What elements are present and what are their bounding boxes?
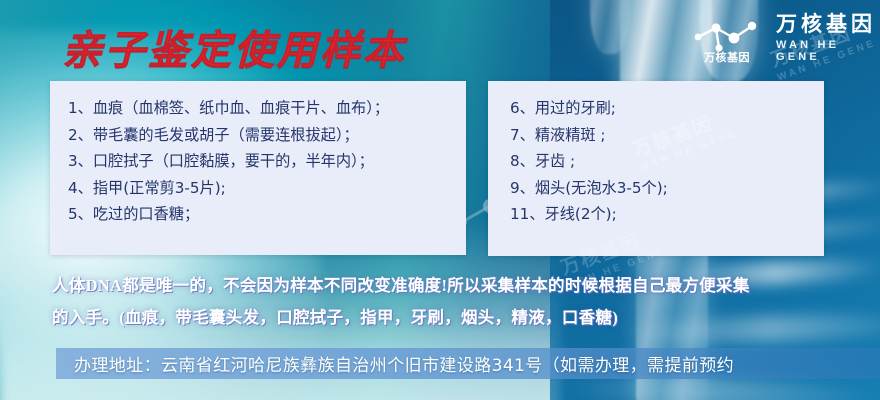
list-item: 8、牙齿 ; bbox=[510, 148, 824, 175]
address-banner-text: 办理地址：云南省红河哈尼族彝族自治州个旧市建设路341号（如需办理，需提前预约 bbox=[56, 351, 734, 376]
brand-mark: 万核基因 bbox=[690, 15, 764, 63]
list-item: 7、精液精斑 ; bbox=[510, 122, 824, 149]
list-item: 9、烟头(无泡水3-5个); bbox=[510, 175, 824, 202]
sample-list-left: 1、血痕（血棉签、纸巾血、血痕干片、血布）； 2、带毛囊的毛发或胡子（需要连根拔… bbox=[50, 81, 466, 228]
list-item: 2、带毛囊的毛发或胡子（需要连根拔起）； bbox=[68, 122, 466, 149]
sample-list-card-right: 6、用过的牙刷; 7、精液精斑 ; 8、牙齿 ; 9、烟头(无泡水3-5个); … bbox=[488, 81, 824, 256]
list-item: 3、口腔拭子（口腔黏膜，要干的，半年内）； bbox=[68, 148, 466, 175]
note-line-1: 人体DNA都是唯一的，不会因为样本不同改变准确度!所以采集样本的时候根据自己最方… bbox=[52, 276, 750, 295]
page-title: 亲子鉴定使用样本 bbox=[62, 18, 406, 76]
poster-root: 万核基因 WAN HE GENE 万核基因 WAN HE GENE 万核基因 W… bbox=[0, 0, 880, 400]
brand-name-cn: 万核基因 bbox=[776, 14, 880, 36]
list-item: 1、血痕（血棉签、纸巾血、血痕干片、血布）； bbox=[68, 95, 466, 122]
brand-name-en: WAN HE GENE bbox=[776, 39, 880, 63]
sample-list-right: 6、用过的牙刷; 7、精液精斑 ; 8、牙齿 ; 9、烟头(无泡水3-5个); … bbox=[488, 81, 824, 228]
list-item: 4、指甲(正常剪3-5片); bbox=[68, 175, 466, 202]
brand-text: 万核基因 WAN HE GENE bbox=[776, 14, 880, 63]
brand-logo: 万核基因 万核基因 WAN HE GENE bbox=[690, 14, 880, 63]
note-line-2: 的入手。(血痕，带毛囊头发，口腔拭子，指甲，牙刷，烟头，精液，口香糖) bbox=[52, 302, 880, 334]
list-item: 6、用过的牙刷; bbox=[510, 95, 824, 122]
sample-list-card-left: 1、血痕（血棉签、纸巾血、血痕干片、血布）； 2、带毛囊的毛发或胡子（需要连根拔… bbox=[50, 81, 466, 255]
brand-mark-label: 万核基因 bbox=[690, 49, 764, 65]
list-item: 11、牙线(2个); bbox=[510, 201, 824, 228]
address-banner: 办理地址：云南省红河哈尼族彝族自治州个旧市建设路341号（如需办理，需提前预约 bbox=[56, 348, 880, 379]
list-item: 5、吃过的口香糖； bbox=[68, 201, 466, 228]
note-paragraph: 人体DNA都是唯一的，不会因为样本不同改变准确度!所以采集样本的时候根据自己最方… bbox=[52, 270, 880, 334]
